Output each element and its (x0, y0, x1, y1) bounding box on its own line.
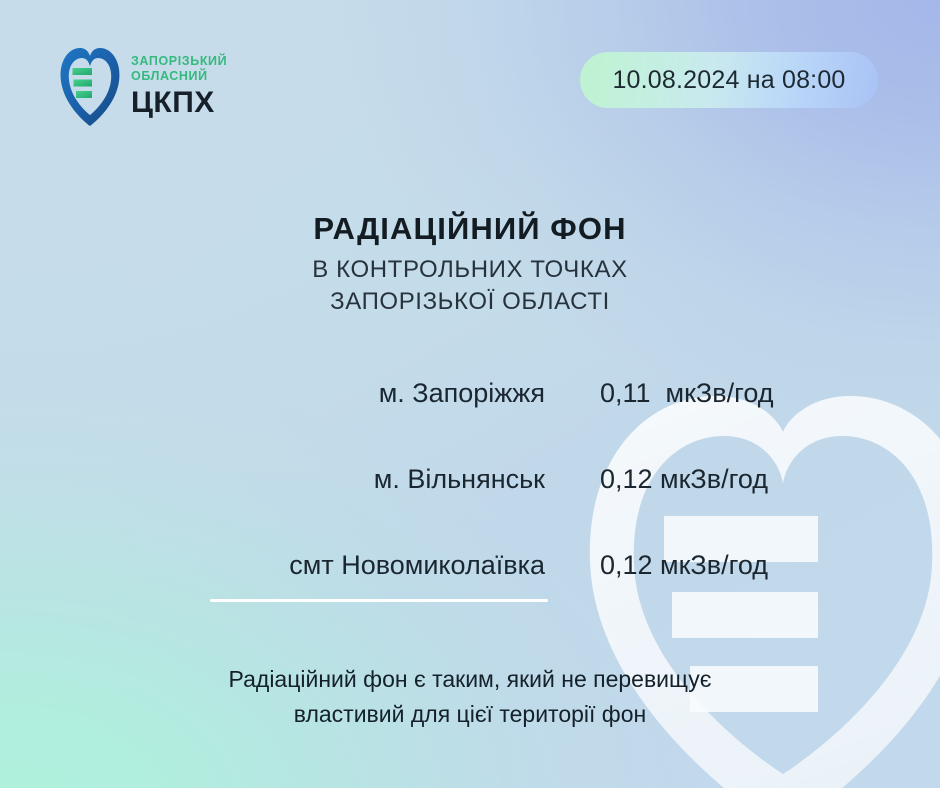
page-subtitle: В КОНТРОЛЬНИХ ТОЧКАХ ЗАПОРІЗЬКОЇ ОБЛАСТІ (0, 254, 940, 318)
section-divider (210, 599, 548, 602)
page-title: РАДІАЦІЙНИЙ ФОН (0, 210, 940, 248)
measurement-row: м. Вільнянськ 0,12 мкЗв/год (0, 464, 940, 550)
footnote-line-1: Радіаційний фон є таким, який не перевищ… (0, 662, 940, 697)
logo-abbreviation: ЦКПХ (131, 87, 227, 119)
measurement-row: смт Новомиколаївка 0,12 мкЗв/год (0, 550, 940, 636)
heading-block: РАДІАЦІЙНИЙ ФОН В КОНТРОЛЬНИХ ТОЧКАХ ЗАП… (0, 210, 940, 318)
measurements-list: м. Запоріжжя 0,11 мкЗв/год м. Вільнянськ… (0, 378, 940, 636)
measurement-value: 0,12 мкЗв/год (600, 464, 768, 495)
page-subtitle-line-1: В КОНТРОЛЬНИХ ТОЧКАХ (0, 254, 940, 286)
footnote-text: Радіаційний фон є таким, який не перевищ… (0, 662, 940, 732)
measurement-location: м. Запоріжжя (0, 378, 545, 409)
logo-line-1: ЗАПОРІЗЬКИЙ (131, 54, 227, 69)
datetime-badge: 10.08.2024 на 08:00 (580, 52, 878, 108)
footnote-line-2: властивий для цієї території фон (0, 697, 940, 732)
organization-logo: ЗАПОРІЗЬКИЙ ОБЛАСНИЙ ЦКПХ (58, 44, 227, 128)
logo-line-2: ОБЛАСНИЙ (131, 69, 227, 84)
measurement-row: м. Запоріжжя 0,11 мкЗв/год (0, 378, 940, 464)
measurement-value: 0,11 мкЗв/год (600, 378, 774, 409)
measurement-location: смт Новомиколаївка (0, 550, 545, 581)
radiation-background-poster: ЗАПОРІЗЬКИЙ ОБЛАСНИЙ ЦКПХ 10.08.2024 на … (0, 0, 940, 788)
datetime-text: 10.08.2024 на 08:00 (612, 66, 845, 95)
shield-heart-logo-icon (58, 44, 122, 128)
measurement-location: м. Вільнянськ (0, 464, 545, 495)
measurement-value: 0,12 мкЗв/год (600, 550, 768, 581)
logo-wordmark: ЗАПОРІЗЬКИЙ ОБЛАСНИЙ ЦКПХ (131, 54, 227, 118)
page-subtitle-line-2: ЗАПОРІЗЬКОЇ ОБЛАСТІ (0, 286, 940, 318)
